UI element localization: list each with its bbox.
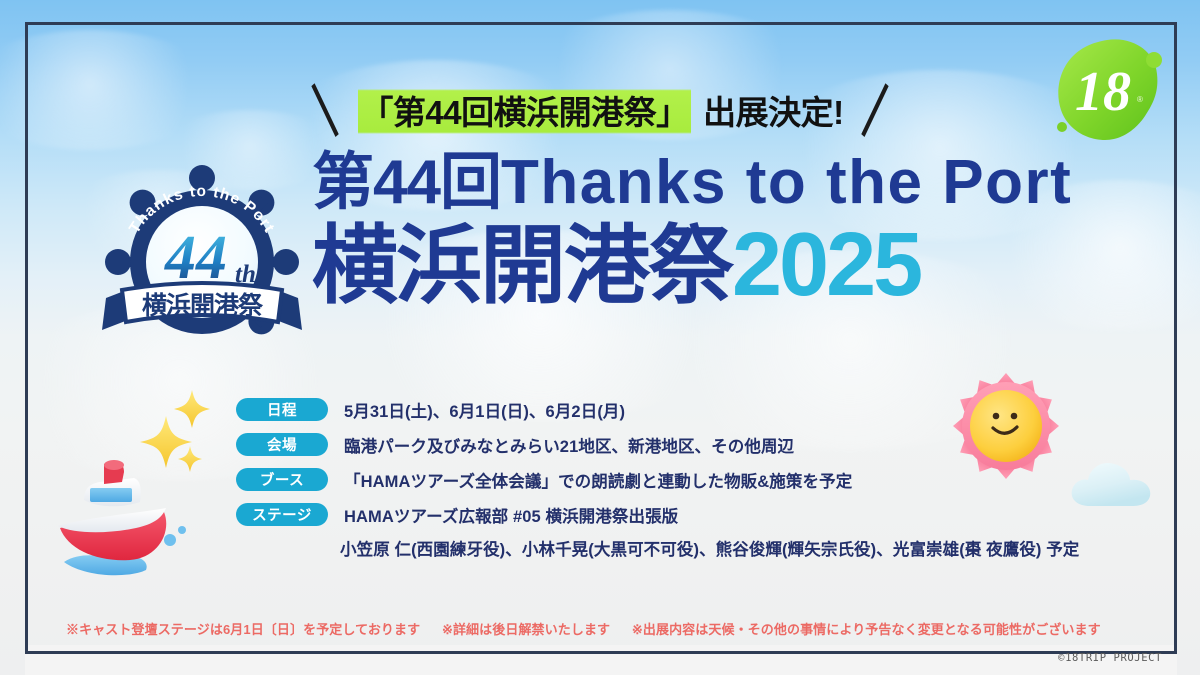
title-line1-latin: Thanks to the Port bbox=[501, 148, 1072, 217]
smiling-sun-emoji bbox=[952, 372, 1060, 480]
slash-left-icon: ＼ bbox=[291, 67, 361, 147]
logo-registered-mark: ® bbox=[1137, 95, 1143, 104]
title-line-1: 第44回Thanks to the Port bbox=[312, 152, 1142, 214]
info-value-booth: 「HAMAツアーズ全体会議」での朗読劇と連動した物販&施策を予定 bbox=[344, 468, 852, 492]
bottom-bar bbox=[25, 645, 1177, 675]
logo-splat-dot bbox=[1146, 52, 1162, 68]
footnotes: ※キャスト登壇ステージは6月1日〔日〕を予定しております ※詳細は後日解禁いたし… bbox=[66, 619, 1101, 638]
info-value-stage: HAMAツアーズ広報部 #05 横浜開港祭出張版 bbox=[344, 503, 678, 527]
promotional-banner: ＼ 「第44回横浜開港祭」 出展決定! ／ bbox=[0, 0, 1200, 675]
info-value-schedule: 5月31日(土)、6月1日(日)、6月2日(月) bbox=[344, 398, 625, 422]
info-label-booth: ブース bbox=[236, 468, 328, 491]
info-label-venue: 会場 bbox=[236, 433, 328, 456]
headline: ＼ 「第44回横浜開港祭」 出展決定! ／ bbox=[0, 78, 1200, 142]
title-line1-prefix: 第44回 bbox=[312, 148, 501, 217]
sun-face bbox=[970, 390, 1042, 462]
title-line-2: 横浜開港祭2025 bbox=[312, 220, 1142, 310]
copyright-text: ©18TRIP PROJECT bbox=[1058, 652, 1162, 664]
footnote-item: ※キャスト登壇ステージは6月1日〔日〕を予定しております bbox=[66, 622, 420, 637]
logo-text: 18 bbox=[1075, 61, 1131, 123]
info-label-schedule: 日程 bbox=[236, 398, 328, 421]
title-line2-year: 2025 bbox=[732, 215, 920, 315]
cast-list: 小笠原 仁(西園練牙役)、小林千晃(大黒可不可役)、熊谷俊輝(輝矢宗氏役)、光富… bbox=[340, 536, 1079, 560]
footnote-item: ※詳細は後日解禁いたします bbox=[442, 622, 610, 637]
sun-eye bbox=[993, 413, 1000, 420]
footnote-item: ※出展内容は天候・その他の事情により予告なく変更となる可能性がございます bbox=[632, 622, 1101, 637]
main-title-block: 第44回Thanks to the Port 横浜開港祭2025 bbox=[312, 152, 1142, 310]
info-row: ステージ HAMAツアーズ広報部 #05 横浜開港祭出張版 bbox=[236, 497, 1136, 532]
emblem-ribbon-text: 横浜開港祭 bbox=[142, 291, 264, 320]
logo-splat-dot bbox=[1057, 122, 1067, 132]
headline-highlight-text: 「第44回横浜開港祭」 bbox=[358, 86, 690, 134]
18trip-logo: 18 ® bbox=[1045, 30, 1167, 152]
info-value-venue: 臨港パーク及びみなとみらい21地区、新港地区、その他周辺 bbox=[344, 433, 794, 457]
cloud-emoji bbox=[1068, 452, 1156, 512]
headline-plain-text: 出展決定! bbox=[703, 86, 844, 134]
motor-boat-emoji bbox=[42, 458, 212, 586]
info-label-stage: ステージ bbox=[236, 503, 328, 526]
slash-right-icon: ／ bbox=[839, 67, 909, 147]
title-line2-japanese: 横浜開港祭 bbox=[312, 218, 732, 314]
anniversary-emblem: Thanks to the Port 44 th 横浜開港祭 bbox=[98, 158, 306, 340]
sun-eye bbox=[1011, 413, 1018, 420]
